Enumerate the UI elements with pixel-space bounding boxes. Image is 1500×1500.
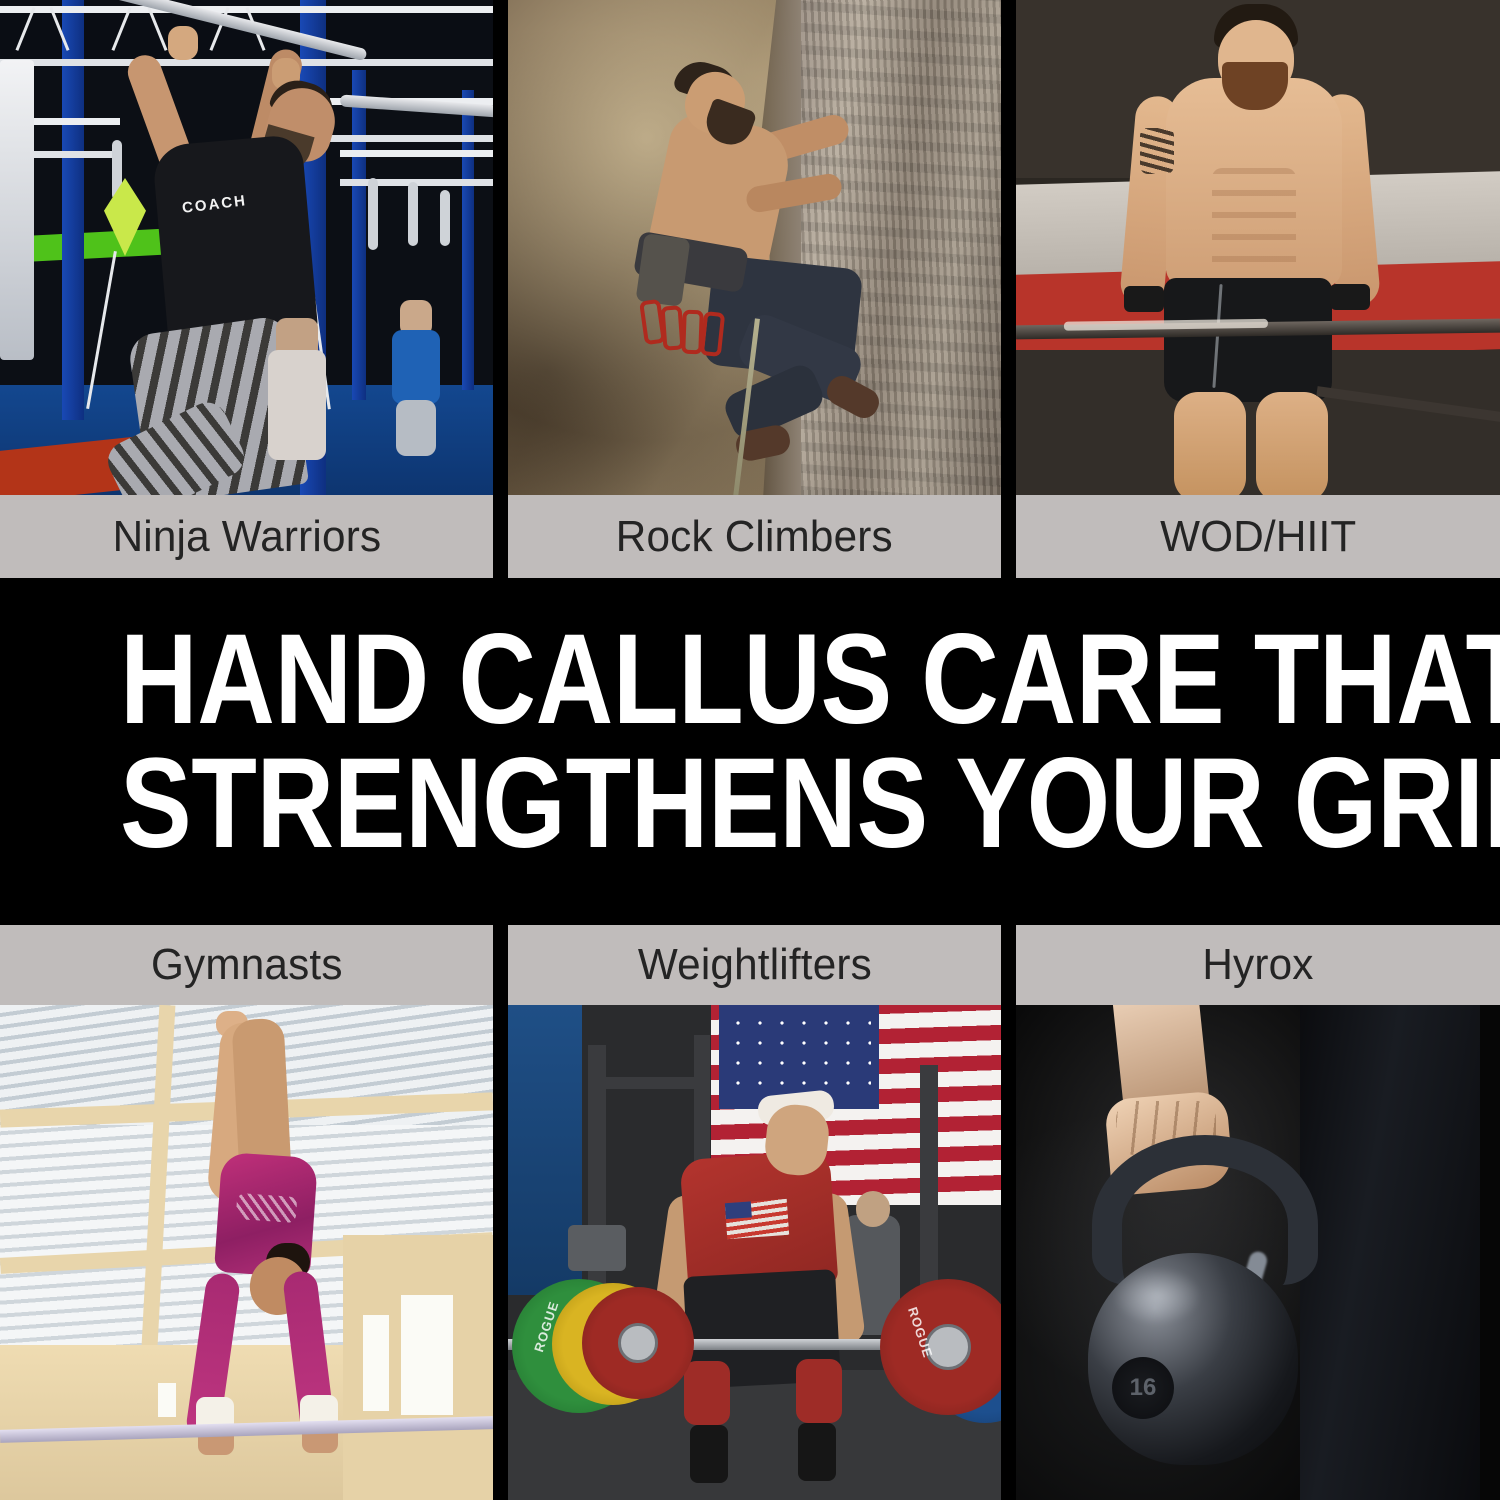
label-text-ninja-warriors: Ninja Warriors [112, 512, 381, 562]
background-lifter-head [856, 1191, 890, 1227]
kettlebell-weight-text: 16 [1130, 1374, 1157, 1402]
kettlebell-specular [1112, 1267, 1202, 1325]
background-child [396, 400, 436, 456]
label-bar-ninja-warriors: Ninja Warriors [0, 495, 493, 578]
lifter-sock [798, 1423, 836, 1481]
athlete-leg-background [1300, 1005, 1480, 1500]
lifter-sock [690, 1425, 728, 1483]
label-text-weightlifters: Weightlifters [637, 940, 871, 990]
bumper-plate-red [582, 1287, 694, 1399]
label-text-hyrox: Hyrox [1202, 940, 1313, 990]
knee-sleeve [796, 1359, 842, 1423]
label-bar-gymnasts: Gymnasts [0, 925, 493, 1005]
label-text-wod-hiit: WOD/HIIT [1160, 512, 1356, 562]
athlete-left-hand [168, 26, 198, 60]
hanging-grip [368, 178, 378, 250]
athlete-shirt [152, 134, 319, 346]
gymnasts-photo [0, 1005, 493, 1500]
hanging-grip [408, 182, 418, 246]
window [363, 1315, 389, 1411]
athlete-left-thigh [1174, 392, 1246, 495]
rig-truss [0, 6, 493, 66]
rock-climbers-photo [508, 0, 1001, 495]
label-text-rock-climbers: Rock Climbers [616, 512, 893, 562]
weightlifters-photo: ROGUE ROGUE [508, 1005, 1001, 1500]
rig-crossbar [604, 1077, 700, 1089]
rig-truss [340, 150, 493, 186]
headline-line-1: HAND CALLUS CARE THAT [120, 618, 1380, 742]
rack-jcup [568, 1225, 626, 1271]
athlete-shorts [1164, 278, 1332, 402]
athlete-armband-tattoo [1140, 128, 1174, 174]
chalk-bag [635, 233, 690, 307]
headline-line-2: STRENGTHENS YOUR GRIP [120, 742, 1380, 866]
athlete-right-thigh [1256, 392, 1328, 495]
rig-tube [0, 60, 34, 360]
label-bar-wod-hiit: WOD/HIIT [1016, 495, 1500, 578]
plate-hub [618, 1323, 658, 1363]
kettlebell-weight-marking: 16 [1112, 1357, 1174, 1419]
wrist-wrap [1330, 284, 1370, 310]
wrist-wrap [1124, 286, 1164, 312]
label-text-gymnasts: Gymnasts [151, 940, 343, 990]
background-child [268, 350, 326, 460]
hyrox-photo: 16 [1016, 1005, 1500, 1500]
window [401, 1295, 453, 1415]
flag-stars [727, 1013, 871, 1101]
shirt-flag-graphic [725, 1199, 789, 1239]
hanging-grip [440, 190, 450, 246]
ninja-warriors-photo: COACH [0, 0, 493, 495]
label-bar-hyrox: Hyrox [1016, 925, 1500, 1005]
wod-hiit-photo [1016, 0, 1500, 495]
window [158, 1383, 176, 1417]
athlete-abs [1212, 168, 1296, 278]
headline: HAND CALLUS CARE THAT STRENGTHENS YOUR G… [0, 618, 1500, 866]
background-child [392, 330, 440, 404]
knee-sleeve [684, 1361, 730, 1425]
label-bar-weightlifters: Weightlifters [508, 925, 1001, 1005]
label-bar-rock-climbers: Rock Climbers [508, 495, 1001, 578]
infographic-canvas: COACH Ninja Warriors [0, 0, 1500, 1500]
rock-face [801, 0, 1001, 495]
